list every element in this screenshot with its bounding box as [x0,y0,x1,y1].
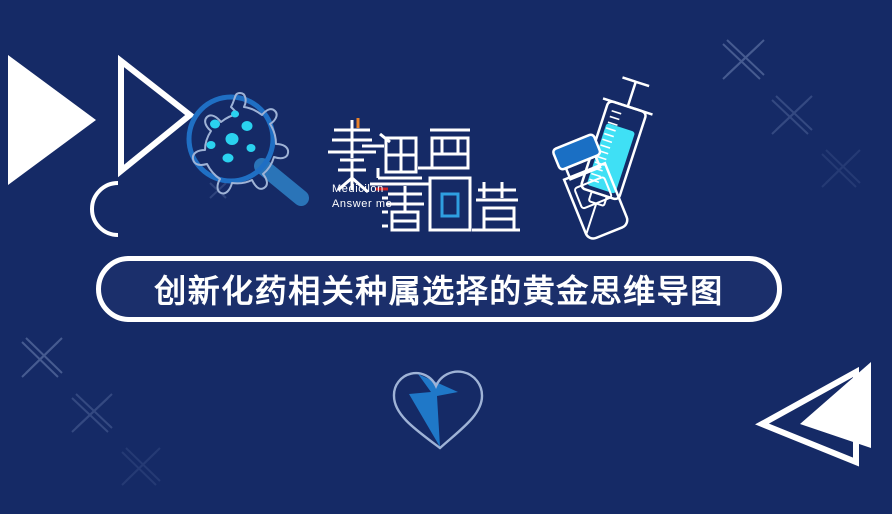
logo-latin-line-1: Medicilon [332,182,392,197]
logo-latin-text: Medicilon Answer me [332,182,392,212]
banner-root: Medicilon Answer me 创新化药相关种属选择的黄金思维导图 [0,0,892,514]
logo-latin-line-2: Answer me [332,197,392,212]
page-title: 创新化药相关种属选择的黄金思维导图 [154,266,724,312]
logo-lineart [326,112,522,238]
title-pill: 创新化药相关种属选择的黄金思维导图 [96,256,782,322]
brand-logo: Medicilon Answer me [326,112,522,238]
bolt-shape [409,374,458,447]
